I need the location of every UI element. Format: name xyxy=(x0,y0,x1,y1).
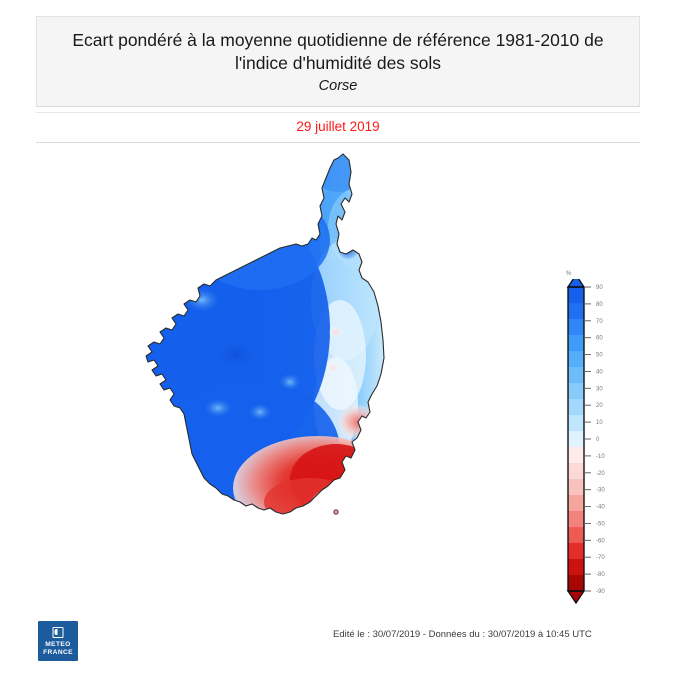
colorbar-tick-label: 40 xyxy=(596,369,603,375)
colorbar-swatches xyxy=(568,287,584,591)
colorbar-tick-label: -60 xyxy=(596,538,605,544)
date-panel: 29 juillet 2019 xyxy=(36,112,640,143)
colorbar-scale: 9080706050403020100-10-20-30-40-50-60-70… xyxy=(560,279,624,619)
colorbar-swatch xyxy=(568,431,584,447)
colorbar-swatch xyxy=(568,351,584,367)
meteo-france-emblem-icon xyxy=(53,627,64,638)
colorbar-swatch xyxy=(568,399,584,415)
colorbar-swatch xyxy=(568,575,584,591)
footer-credits: Edité le : 30/07/2019 - Données du : 30/… xyxy=(333,629,592,640)
colorbar-tick-label: -40 xyxy=(596,505,605,511)
colorbar-swatch xyxy=(568,287,584,303)
colorbar-swatch xyxy=(568,559,584,575)
map-figure: % 9080706050403020100-10-20-30-40-50-60-… xyxy=(0,145,675,675)
colorbar-tick-label: -50 xyxy=(596,521,605,527)
colorbar-tick-label: -10 xyxy=(596,454,605,460)
colorbar-swatch xyxy=(568,367,584,383)
page-title: Ecart pondéré à la moyenne quotidienne d… xyxy=(47,29,629,75)
islet-marker xyxy=(334,510,338,514)
logo-line-1: METEO xyxy=(38,641,78,648)
logo-line-2: FRANCE xyxy=(38,649,78,656)
colorbar-tick-label: -30 xyxy=(596,488,605,494)
colorbar-tick-label: -90 xyxy=(596,589,605,595)
colorbar-tick-label: 30 xyxy=(596,386,603,392)
colorbar-swatch xyxy=(568,527,584,543)
colorbar-unit-label: % xyxy=(566,271,571,277)
colorbar-swatch xyxy=(568,303,584,319)
colorbar-tick-label: -20 xyxy=(596,471,605,477)
colorbar-swatch xyxy=(568,495,584,511)
colorbar-swatch xyxy=(568,383,584,399)
colorbar-tick-label: 50 xyxy=(596,353,603,359)
colorbar-ticks: 9080706050403020100-10-20-30-40-50-60-70… xyxy=(584,285,605,595)
title-panel: Ecart pondéré à la moyenne quotidienne d… xyxy=(36,16,640,107)
colorbar: % 9080706050403020100-10-20-30-40-50-60-… xyxy=(560,271,630,621)
colorbar-swatch xyxy=(568,463,584,479)
colorbar-cap-bottom xyxy=(568,591,584,603)
map-date: 29 juillet 2019 xyxy=(296,119,379,134)
colorbar-tick-label: 70 xyxy=(596,319,603,325)
colorbar-swatch xyxy=(568,511,584,527)
colorbar-swatch xyxy=(568,543,584,559)
colorbar-swatch xyxy=(568,479,584,495)
colorbar-tick-label: 90 xyxy=(596,285,603,291)
colorbar-tick-label: 20 xyxy=(596,403,603,409)
anomaly-field xyxy=(140,150,440,620)
region-subtitle: Corse xyxy=(47,76,629,96)
colorbar-swatch xyxy=(568,447,584,463)
colorbar-tick-label: -80 xyxy=(596,572,605,578)
colorbar-swatch xyxy=(568,319,584,335)
colorbar-tick-label: 80 xyxy=(596,302,603,308)
colorbar-cap-top xyxy=(568,279,584,287)
colorbar-tick-label: 10 xyxy=(596,420,603,426)
colorbar-tick-label: -70 xyxy=(596,555,605,561)
meteo-france-logo: METEO FRANCE xyxy=(38,621,78,661)
colorbar-tick-label: 0 xyxy=(596,437,600,443)
colorbar-tick-label: 60 xyxy=(596,336,603,342)
corsica-choropleth-map xyxy=(140,150,440,620)
colorbar-swatch xyxy=(568,335,584,351)
colorbar-swatch xyxy=(568,415,584,431)
